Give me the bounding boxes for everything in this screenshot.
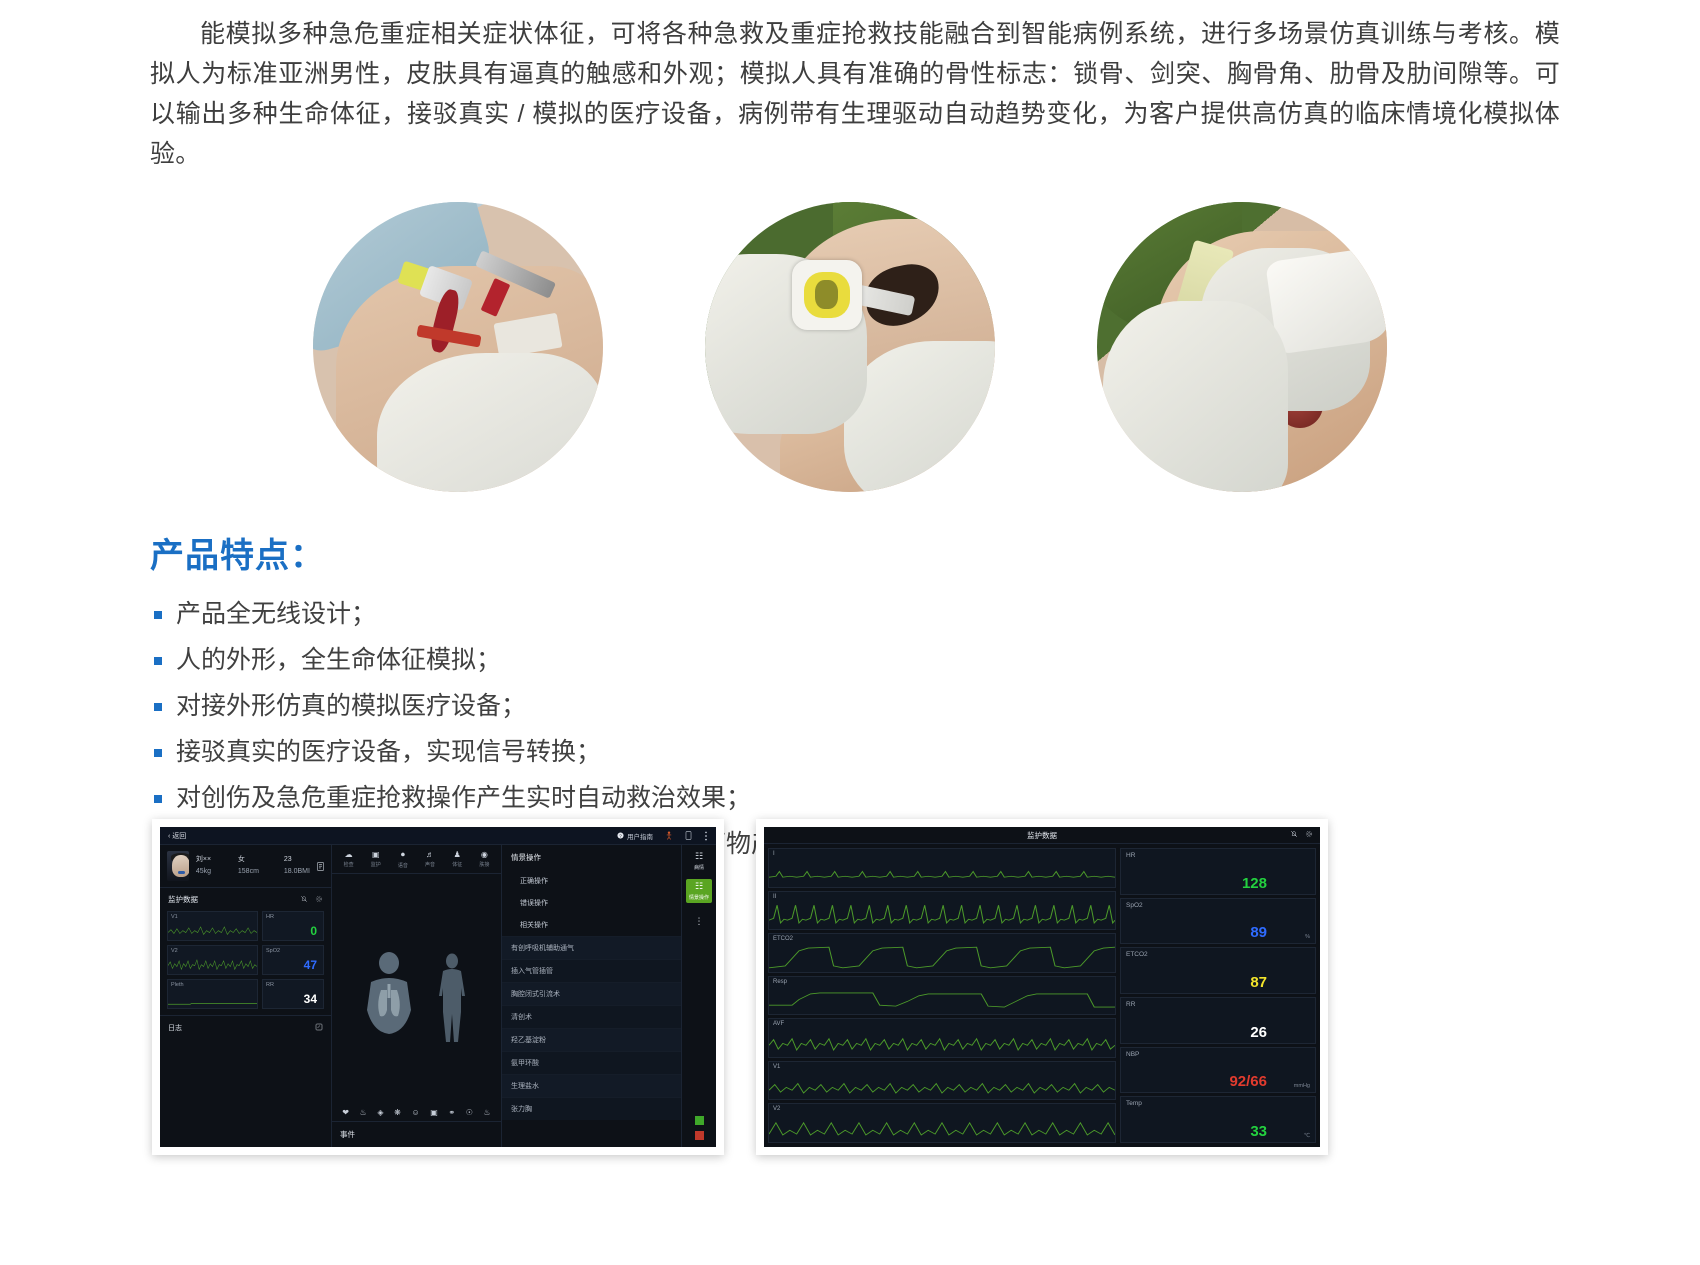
bell-off-icon[interactable] <box>300 895 308 905</box>
vital-value: 0 <box>310 924 317 938</box>
operation-item[interactable]: 有创呼吸机辅助通气 <box>502 936 681 959</box>
case-icon: ☷ <box>695 851 703 862</box>
rail-button-case[interactable]: ☷ 病情 <box>686 849 712 873</box>
patient-name: 刘×× <box>196 854 222 866</box>
patient-card: 刘×× 女 23 45kg 158cm 18.0BMI <box>160 845 331 888</box>
bullet-icon <box>154 795 162 803</box>
vital-label: HR <box>266 914 274 920</box>
log-title: 日志 <box>168 1023 182 1033</box>
patient-monitor-screenshot: 监护数据 I II <box>756 819 1328 1155</box>
gear-icon[interactable] <box>315 895 323 905</box>
vital-value: 128 <box>1242 875 1267 892</box>
vital-etco2: ETCO2 87 <box>1120 947 1316 994</box>
speaker-icon: ♬ <box>426 850 434 859</box>
heart-icon[interactable]: ❤ <box>342 1108 349 1117</box>
vital-value: 89 <box>1250 924 1267 941</box>
vital-value: 34 <box>304 992 317 1006</box>
list-item: 产品全无线设计； <box>150 595 1700 634</box>
waveform-pleth: Pleth <box>167 979 258 1009</box>
monitor-title: 监护数据 <box>1027 830 1057 841</box>
list-item: 对接外形仿真的模拟医疗设备； <box>150 687 1700 726</box>
bullet-icon <box>154 703 162 711</box>
tool-monitor[interactable]: ▣监护 <box>364 850 388 869</box>
chest-tube-insertion-photo <box>313 202 603 492</box>
vital-label: SpO2 <box>266 948 280 954</box>
stomach-icon[interactable]: ⚭ <box>448 1108 455 1117</box>
svg-text:?: ? <box>619 833 622 839</box>
tool-row: ☁检查 ▣监护 ⏺语音 ♬声音 ♟体征 ◉肤接 <box>332 845 501 874</box>
rail-button-scenario[interactable]: ☷ 情景操作 <box>686 879 712 903</box>
vital-label: RR <box>1126 1001 1135 1008</box>
monitor-waveform-grid: V1 HR 0 V2 <box>160 911 331 1015</box>
waveform-v1: V1 <box>768 1061 1116 1101</box>
tool-label: 体征 <box>452 861 462 868</box>
rail-label: 情景操作 <box>689 894 709 901</box>
patient-row-1: 刘×× 女 23 <box>196 854 310 866</box>
vital-value: 47 <box>304 958 317 972</box>
tool-skin[interactable]: ◉肤接 <box>472 850 496 869</box>
tool-sound[interactable]: ♬声音 <box>418 850 442 869</box>
vital-label: NBP <box>1126 1051 1139 1058</box>
waveform-v1: V1 <box>167 911 258 941</box>
vital-rr: RR 34 <box>262 979 324 1009</box>
rail-label: 病情 <box>694 864 704 871</box>
blood-icon[interactable]: ♨ <box>484 1108 491 1117</box>
user-guide-button[interactable]: ? 用户指南 <box>617 831 653 841</box>
event-section-header: 事件 <box>332 1121 501 1147</box>
bullet-icon <box>154 611 162 619</box>
patient-row-2: 45kg 158cm 18.0BMI <box>196 866 310 878</box>
vital-hr: HR 0 <box>262 911 324 941</box>
mic-icon: ⏺ <box>401 850 405 860</box>
screenshots-row: ‹ 返回 ? 用户指南 <box>152 819 1328 1155</box>
operation-item[interactable]: 张力胸 <box>502 1097 681 1120</box>
operation-item[interactable]: 清创术 <box>502 1005 681 1028</box>
list-item: 接驳真实的医疗设备，实现信号转换； <box>150 733 1700 772</box>
vitals-icon: ♟ <box>454 850 461 859</box>
patient-height: 158cm <box>238 866 268 878</box>
tool-check[interactable]: ☁检查 <box>337 850 361 869</box>
help-icon: ? <box>617 832 624 839</box>
scenario-icon: ☷ <box>695 881 703 892</box>
ecg-icon[interactable]: ▣ <box>430 1108 438 1117</box>
vitals-column: HR 128 SpO2 89 % ETCO2 87 <box>1120 848 1316 1143</box>
stethoscope-icon: ☁ <box>345 850 353 859</box>
operation-item[interactable]: 插入气管插管 <box>502 959 681 982</box>
organ-icon-row: ❤ ♨ ◈ ❋ ☺ ▣ ⚭ ☉ ♨ <box>332 1108 501 1117</box>
intro-paragraph: 能模拟多种急危重症相关症状体征，可将各种急救及重症抢救技能融合到智能病例系统，进… <box>150 14 1560 174</box>
bullet-icon <box>154 749 162 757</box>
document-icon[interactable] <box>317 861 324 872</box>
tool-label: 语音 <box>398 862 408 869</box>
operation-item[interactable]: 氨甲环酸 <box>502 1051 681 1074</box>
face-icon[interactable]: ☺ <box>411 1108 419 1117</box>
edit-square-icon[interactable] <box>695 1116 704 1125</box>
monitor-card-title: 监护数据 <box>168 894 198 905</box>
vital-unit: mmHg <box>1294 1083 1310 1089</box>
tool-vitals[interactable]: ♟体征 <box>445 850 469 869</box>
monitor-icon: ▣ <box>372 850 380 859</box>
vital-label: Temp <box>1126 1100 1142 1107</box>
log-section-header: 日志 <box>160 1015 331 1040</box>
app-topbar: ‹ 返回 ? 用户指南 <box>160 827 716 845</box>
waveform-resp: Resp <box>768 976 1116 1016</box>
monitor-card-header: 监护数据 <box>160 888 331 911</box>
back-button[interactable]: ‹ 返回 <box>168 831 186 841</box>
tool-label: 检查 <box>344 861 354 868</box>
lung-icon[interactable]: ♨ <box>360 1108 367 1117</box>
wound-care-photo <box>1097 202 1387 492</box>
body-view-column: ☁检查 ▣监护 ⏺语音 ♬声音 ♟体征 ◉肤接 <box>332 845 502 1147</box>
tool-voice[interactable]: ⏺语音 <box>391 850 415 869</box>
gear-icon[interactable] <box>1305 830 1313 840</box>
right-rail: ☷ 病情 ☷ 情景操作 ⋮ <box>682 845 716 1147</box>
vital-label: ETCO2 <box>1126 951 1148 958</box>
user-guide-label: 用户指南 <box>627 831 653 841</box>
scenario-title: 情景操作 <box>502 845 681 870</box>
feature-text: 接驳真实的医疗设备，实现信号转换； <box>176 738 601 766</box>
feature-text: 人的外形，全生命体征模拟； <box>176 646 501 674</box>
scenario-operations-column: 情景操作 正确操作 错误操作 相关操作 有创呼吸机辅助通气 插入气管插管 胸腔闭… <box>502 845 682 1147</box>
operation-item[interactable]: 羟乙基淀粉 <box>502 1028 681 1051</box>
operation-item[interactable]: 胸腔闭式引流术 <box>502 982 681 1005</box>
tool-label: 肤接 <box>479 861 489 868</box>
rail-button-more[interactable]: ⋮ <box>686 909 712 933</box>
vital-value: 87 <box>1250 974 1267 991</box>
bullet-icon <box>154 657 162 665</box>
edit-icon[interactable] <box>315 1023 323 1033</box>
vital-spo2: SpO2 89 % <box>1120 898 1316 945</box>
patient-gender: 女 <box>238 854 268 866</box>
tablet-icon[interactable] <box>685 831 692 840</box>
tool-label: 监护 <box>371 861 381 868</box>
liver-icon[interactable]: ◈ <box>377 1108 383 1117</box>
vital-value: 33 <box>1250 1123 1267 1140</box>
more-vertical-icon: ⋮ <box>695 916 704 927</box>
feature-text: 对接外形仿真的模拟医疗设备； <box>176 692 526 720</box>
scenario-subop-related[interactable]: 相关操作 <box>502 914 681 936</box>
torso-anatomy-figure <box>361 952 417 1044</box>
patient-age: 23 <box>284 854 292 866</box>
vital-spo2: SpO2 47 <box>262 945 324 975</box>
vital-value: 26 <box>1250 1024 1267 1041</box>
vital-label: RR <box>266 982 274 988</box>
feature-text: 产品全无线设计； <box>176 600 376 628</box>
waveform-column: I II ETCO2 Resp <box>768 848 1116 1143</box>
list-item: 人的外形，全生命体征模拟； <box>150 641 1700 680</box>
scenario-subop-correct[interactable]: 正确操作 <box>502 870 681 892</box>
waveform-lead-i: I <box>768 848 1116 888</box>
waveform-v2: V2 <box>768 1103 1116 1143</box>
feature-text: 对创伤及急危重症抢救操作产生实时自动救治效果； <box>176 784 751 812</box>
nerve-icon[interactable]: ❋ <box>394 1108 401 1117</box>
operation-item[interactable]: 生理盐水 <box>502 1074 681 1097</box>
body-diagram-area[interactable]: ❤ ♨ ◈ ❋ ☺ ▣ ⚭ ☉ ♨ <box>332 874 501 1121</box>
tool-label: 声音 <box>425 861 435 868</box>
eye-icon[interactable]: ☉ <box>466 1108 473 1117</box>
vital-temp: Temp 33 ℃ <box>1120 1096 1316 1143</box>
vital-label: SpO2 <box>1126 902 1143 909</box>
vital-unit: % <box>1305 934 1310 940</box>
patient-bmi: 18.0BMI <box>284 866 310 878</box>
features-section: 产品特点： 产品全无线设计； 人的外形，全生命体征模拟； 对接外形仿真的模拟医疗… <box>150 528 1700 864</box>
waveform-lead-ii: II <box>768 891 1116 931</box>
waveform-etco2: ETCO2 <box>768 933 1116 973</box>
bell-off-icon[interactable] <box>1290 830 1298 840</box>
skin-icon: ◉ <box>481 850 488 859</box>
log-body <box>160 1040 331 1147</box>
vital-unit: ℃ <box>1304 1133 1310 1139</box>
simulation-app-screenshot: ‹ 返回 ? 用户指南 <box>152 819 724 1155</box>
avatar <box>167 851 189 881</box>
features-heading: 产品特点： <box>150 528 1700 577</box>
vital-nbp: NBP 92/66 mmHg <box>1120 1047 1316 1094</box>
stop-square-icon[interactable] <box>695 1131 704 1140</box>
patient-weight: 45kg <box>196 866 222 878</box>
waveform-v2: V2 <box>167 945 258 975</box>
waveform-avf: AVF <box>768 1018 1116 1058</box>
list-item: 对创伤及急危重症抢救操作产生实时自动救治效果； <box>150 779 1700 818</box>
person-icon[interactable] <box>665 831 673 840</box>
vital-label: HR <box>1126 852 1135 859</box>
scenario-subop-wrong[interactable]: 错误操作 <box>502 892 681 914</box>
airway-device-photo <box>705 202 995 492</box>
photo-row <box>0 202 1700 492</box>
patient-column: 刘×× 女 23 45kg 158cm 18.0BMI <box>160 845 332 1147</box>
vital-rr: RR 26 <box>1120 997 1316 1044</box>
vital-value: 92/66 <box>1229 1073 1267 1090</box>
more-icon[interactable] <box>704 831 708 841</box>
monitor-topbar: 监护数据 <box>764 827 1320 844</box>
full-body-figure <box>431 952 473 1044</box>
vital-hr: HR 128 <box>1120 848 1316 895</box>
